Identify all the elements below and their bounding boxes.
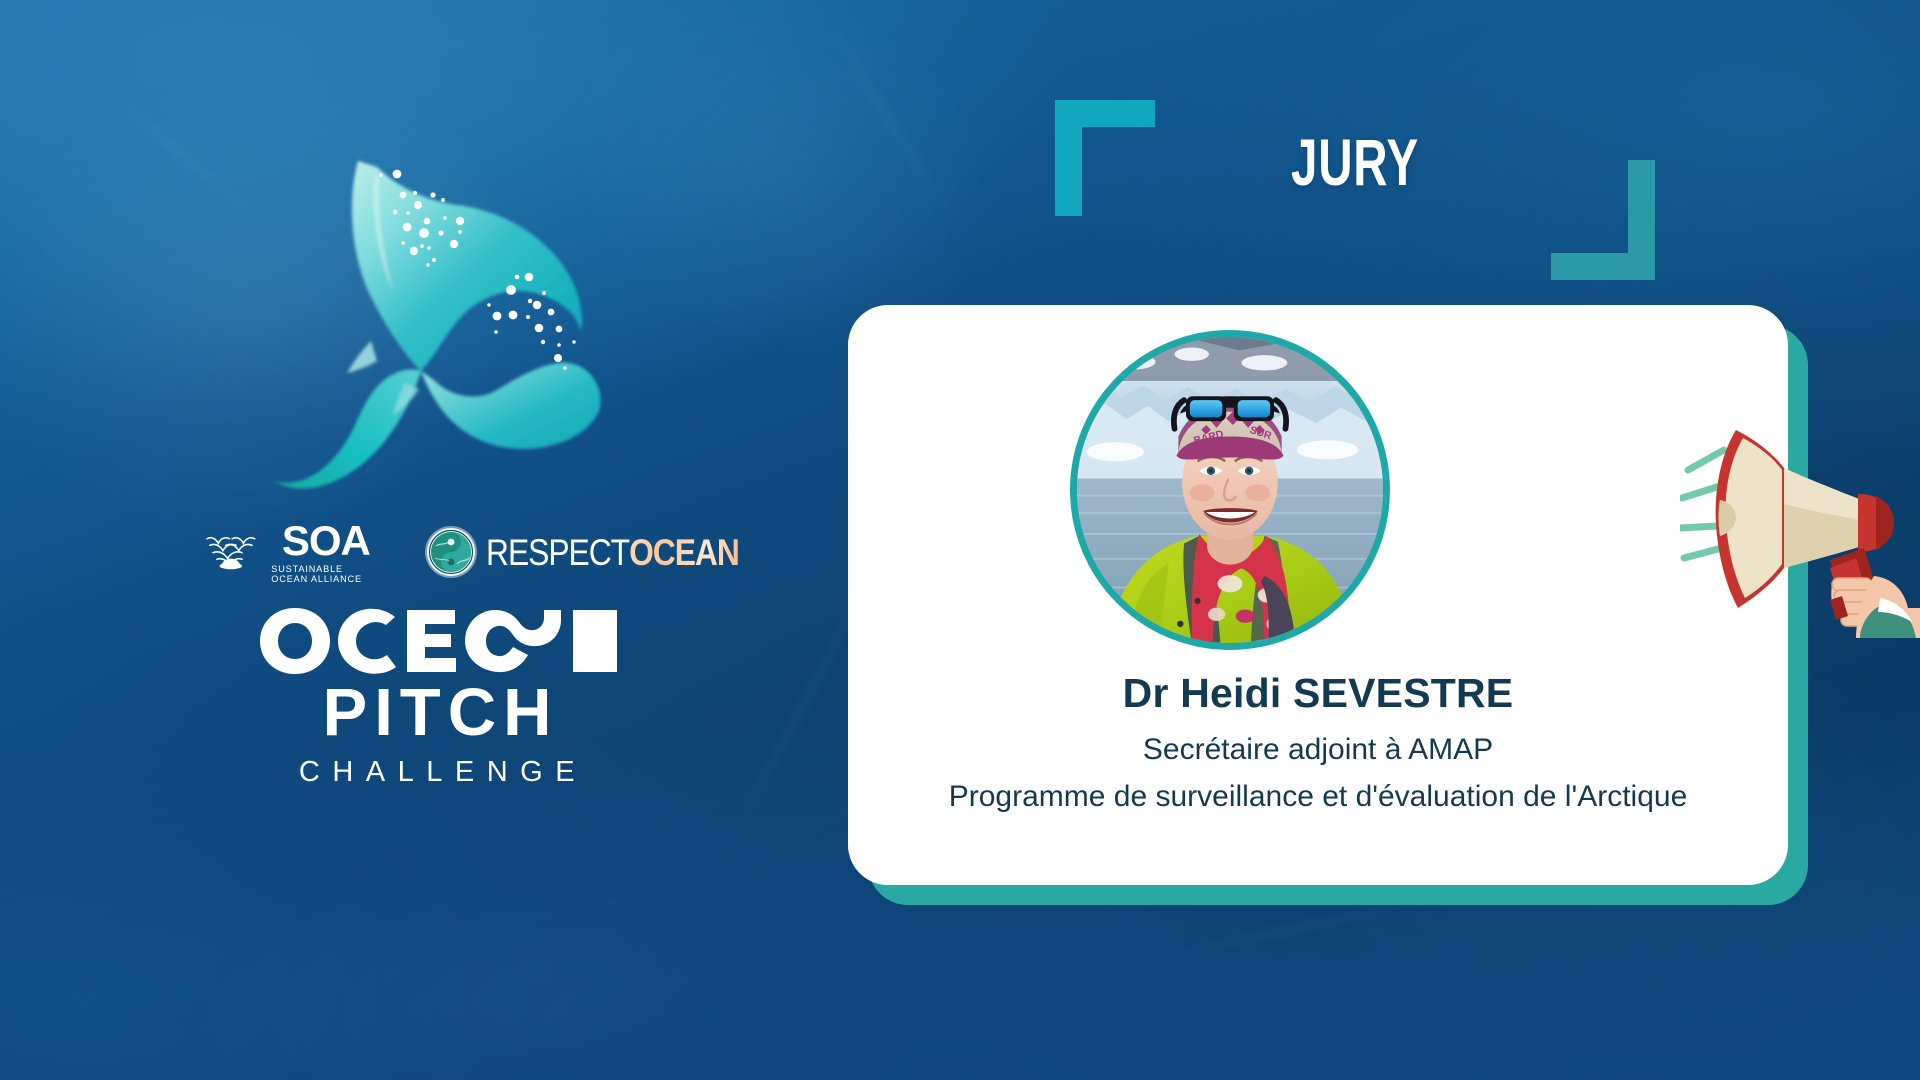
jury-header: JURY <box>1055 100 1655 275</box>
jury-member-details: Dr Heidi SEVESTRE Secrétaire adjoint à A… <box>848 670 1788 814</box>
water-streak <box>820 10 960 232</box>
slide-canvas: SOA SUSTAINABLE OCEAN ALLIANCE <box>0 0 1920 1080</box>
avatar: BARD SUR <box>1070 330 1390 650</box>
partner-logos: SOA SUSTAINABLE OCEAN ALLIANCE <box>205 512 765 592</box>
water-streak <box>1133 899 1427 964</box>
jury-member-card[interactable]: BARD SUR <box>848 305 1788 885</box>
opc-line-challenge: CHALLENGE <box>222 758 652 787</box>
ocean-pitch-challenge-logo: PITCH CHALLENGE <box>222 604 652 787</box>
opc-line-pitch: PITCH <box>222 680 652 746</box>
respect-ocean-word1: RESPECT <box>486 532 629 573</box>
manta-ray-illustration <box>195 115 655 515</box>
megaphone-illustration <box>1680 408 1920 638</box>
portrait-photo: BARD SUR <box>1077 337 1383 643</box>
soa-name: SOA <box>282 520 370 562</box>
respect-ocean-word2: OCEAN <box>629 532 739 573</box>
jury-member-role: Secrétaire adjoint à AMAP <box>848 733 1788 767</box>
jury-member-name: Dr Heidi SEVESTRE <box>848 670 1788 717</box>
respect-ocean-logo: RESPECTOCEAN <box>427 528 780 576</box>
opc-line-ocean <box>222 604 652 678</box>
respect-ocean-globe-icon <box>427 528 475 576</box>
page-title: JURY <box>1139 124 1571 200</box>
soa-logo: SOA SUSTAINABLE OCEAN ALLIANCE <box>205 520 383 584</box>
jury-member-organization: Programme de surveillance et d'évaluatio… <box>848 780 1788 814</box>
soa-waves-logo-icon <box>205 524 257 580</box>
soa-tagline: SUSTAINABLE OCEAN ALLIANCE <box>271 565 381 584</box>
